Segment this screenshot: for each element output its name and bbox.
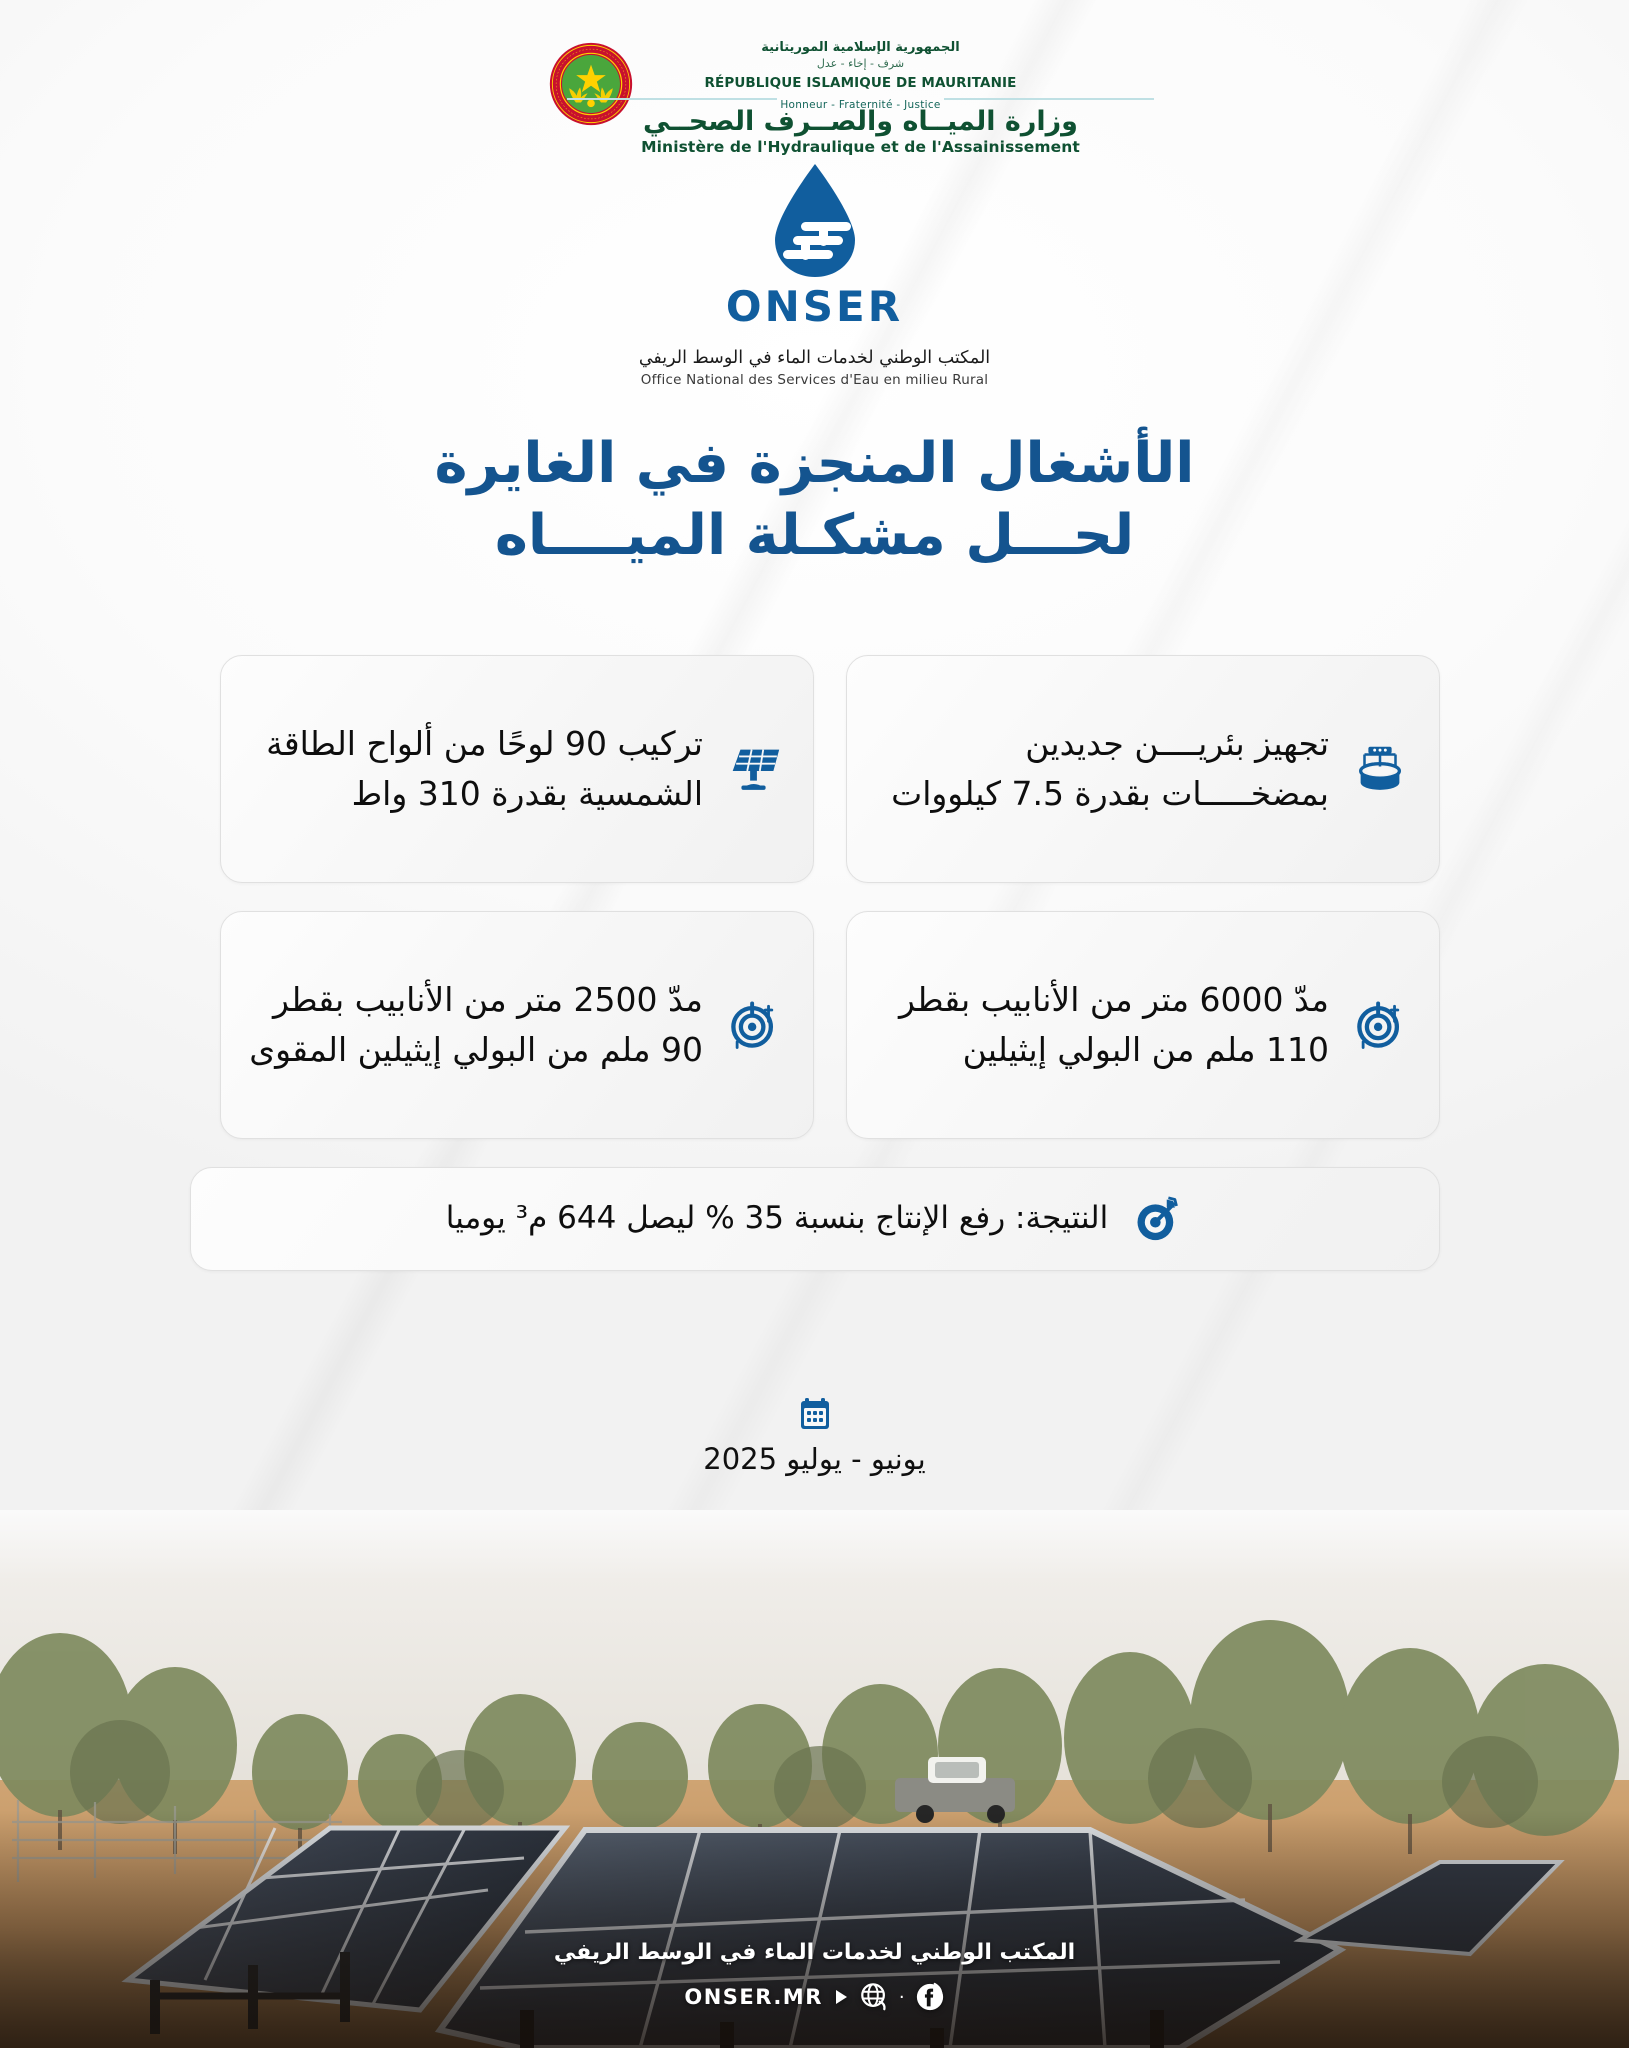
page-title: الأشغال المنجزة في الغايرة لحـــل مشكـلة… xyxy=(0,428,1629,571)
card-solar-panels: تركيب 90 لوحًا من ألواح الطاقة الشمسية ب… xyxy=(220,655,814,883)
globe-icon[interactable] xyxy=(859,1982,889,2012)
brand-subtitle-french: Office National des Services d'Eau en mi… xyxy=(0,372,1629,388)
brand-name: ONSER xyxy=(0,282,1629,331)
pipe-section-icon xyxy=(1347,995,1413,1055)
stats-card-grid: تجهيز بئريــــن جديدين بمضخـــــات بقدرة… xyxy=(190,655,1440,1271)
footer-org-name: المكتب الوطني لخدمات الماء في الوسط الري… xyxy=(0,1939,1629,1968)
card-pipes-90: مدّ 2500 متر من الأنابيب بقطر 90 ملم من … xyxy=(220,911,814,1139)
footer-website[interactable]: ONSER.MR xyxy=(684,1985,823,2009)
republic-motto-arabic: شرف - إخاء - عدل xyxy=(641,56,1080,73)
facebook-icon[interactable] xyxy=(915,1982,945,2012)
mauritania-national-emblem-icon xyxy=(549,42,633,126)
republic-motto-french: Honneur - Fraternité - Justice xyxy=(774,99,946,111)
header-divider: Honneur - Fraternité - Justice xyxy=(641,93,1080,104)
footer-links-row: ONSER.MR · xyxy=(0,1982,1629,2012)
card-result: النتيجة: رفع الإنتاج بنسبة 35 % ليصل 644… xyxy=(190,1167,1440,1271)
solar-panel-icon xyxy=(721,738,787,800)
ministry-name-french: Ministère de l'Hydraulique et de l'Assai… xyxy=(641,138,1080,157)
water-drop-logo-icon xyxy=(767,160,863,280)
pipe-section-icon xyxy=(721,995,787,1055)
republic-name-french: RÉPUBLIQUE ISLAMIQUE DE MAURITANIE xyxy=(641,73,1080,93)
infographic-page: الجمهورية الإسلامية الموريتانية شرف - إخ… xyxy=(0,0,1629,2048)
target-dart-icon xyxy=(1130,1193,1184,1245)
card-solar-panels-text: تركيب 90 لوحًا من ألواح الطاقة الشمسية ب… xyxy=(243,719,703,819)
card-pipes-110: مدّ 6000 متر من الأنابيب بقطر 110 ملم من… xyxy=(846,911,1440,1139)
page-title-line1: الأشغال المنجزة في الغايرة xyxy=(0,428,1629,500)
date-block: يونيو - يوليو 2025 xyxy=(0,1396,1629,1476)
date-text: يونيو - يوليو 2025 xyxy=(0,1442,1629,1476)
ministry-header: الجمهورية الإسلامية الموريتانية شرف - إخ… xyxy=(0,34,1629,158)
calendar-icon xyxy=(797,1396,833,1432)
footer: المكتب الوطني لخدمات الماء في الوسط الري… xyxy=(0,1939,1629,2012)
footer-separator: · xyxy=(899,1987,905,2008)
card-pipes-90-text: مدّ 2500 متر من الأنابيب بقطر 90 ملم من … xyxy=(243,975,703,1075)
ministry-text-block: الجمهورية الإسلامية الموريتانية شرف - إخ… xyxy=(641,34,1080,158)
page-title-line2: لحـــل مشكـلة الميــــاه xyxy=(0,500,1629,572)
onser-brand-block: ONSER المكتب الوطني لخدمات الماء في الوس… xyxy=(0,160,1629,388)
card-result-text: النتيجة: رفع الإنتاج بنسبة 35 % ليصل 644… xyxy=(446,1198,1108,1240)
republic-name-arabic: الجمهورية الإسلامية الموريتانية xyxy=(641,40,1080,56)
card-boreholes: تجهيز بئريــــن جديدين بمضخـــــات بقدرة… xyxy=(846,655,1440,883)
card-pipes-110-text: مدّ 6000 متر من الأنابيب بقطر 110 ملم من… xyxy=(869,975,1329,1075)
water-well-icon xyxy=(1347,738,1413,800)
brand-subtitle-arabic: المكتب الوطني لخدمات الماء في الوسط الري… xyxy=(0,347,1629,370)
card-boreholes-text: تجهيز بئريــــن جديدين بمضخـــــات بقدرة… xyxy=(869,719,1329,819)
play-triangle-icon xyxy=(833,1988,849,2006)
